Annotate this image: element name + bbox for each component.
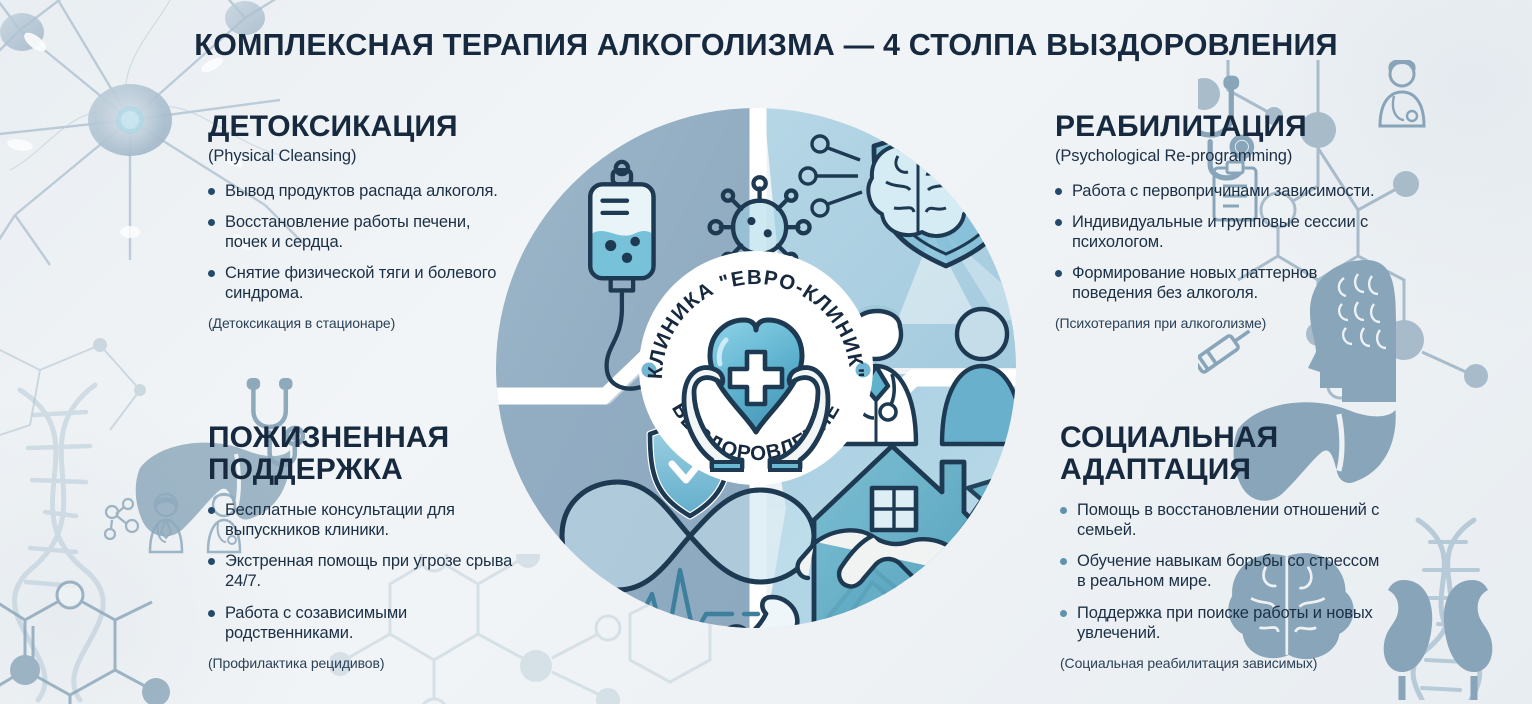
list-item: Работа с первопричинами зависимости. bbox=[1055, 181, 1395, 201]
syringe-icon bbox=[1198, 324, 1254, 380]
page-title: КОМПЛЕКСНАЯ ТЕРАПИЯ АЛКОГОЛИЗМА — 4 СТОЛ… bbox=[0, 28, 1532, 63]
section-rehab: РЕАБИЛИТАЦИЯ (Psychological Re-programmi… bbox=[1055, 112, 1395, 331]
list-item: Вывод продуктов распада алкоголя. bbox=[208, 181, 498, 201]
list-item: Бесплатные консультации для выпускников … bbox=[208, 500, 528, 540]
social-note: (Социальная реабилитация зависимых) bbox=[1060, 655, 1390, 671]
detox-note: (Детоксикация в стационаре) bbox=[208, 315, 498, 331]
support-note: (Профилактика рецидивов) bbox=[208, 655, 528, 671]
recovery-wheel-diagram: КЛИНИКА "ЕВРО-КЛИНИК" ВЫЗДОРОВЛЕНИЕ bbox=[466, 78, 1046, 658]
list-item: Работа с созависимыми родственниками. bbox=[208, 603, 528, 643]
rehab-subheading: (Psychological Re-programming) bbox=[1055, 147, 1395, 166]
buildings-icon bbox=[932, 548, 1046, 658]
list-item: Снятие физической тяги и болевого синдро… bbox=[208, 263, 498, 303]
list-item: Помощь в восстановлении отношений с семь… bbox=[1060, 500, 1390, 540]
rehab-bullet-list: Работа с первопричинами зависимости. Инд… bbox=[1055, 181, 1395, 304]
section-social: СОЦИАЛЬНАЯАДАПТАЦИЯ Помощь в восстановле… bbox=[1060, 422, 1390, 671]
molecule-hexagon-icon bbox=[0, 564, 170, 704]
list-item: Формирование новых паттернов поведения б… bbox=[1055, 263, 1395, 303]
list-item: Индивидуальные и групповые сессии с псих… bbox=[1055, 212, 1395, 252]
brain-icon bbox=[868, 144, 976, 236]
social-bullet-list: Помощь в восстановлении отношений с семь… bbox=[1060, 500, 1390, 643]
detox-heading: ДЕТОКСИКАЦИЯ bbox=[208, 112, 498, 143]
rehab-note: (Психотерапия при алкоголизме) bbox=[1055, 315, 1395, 331]
list-item: Восстановление работы печени, почек и се… bbox=[208, 212, 498, 252]
detox-subheading: (Physical Cleansing) bbox=[208, 147, 498, 166]
social-heading: СОЦИАЛЬНАЯАДАПТАЦИЯ bbox=[1060, 422, 1390, 485]
support-heading: ПОЖИЗНЕННАЯПОДДЕРЖКА bbox=[208, 422, 528, 485]
kidneys-icon bbox=[1384, 580, 1493, 700]
support-bullet-list: Бесплатные консультации для выпускников … bbox=[208, 500, 528, 643]
infographic-canvas: КОМПЛЕКСНАЯ ТЕРАПИЯ АЛКОГОЛИЗМА — 4 СТОЛ… bbox=[0, 0, 1532, 704]
dna-helix-icon bbox=[1413, 520, 1480, 700]
section-detox: ДЕТОКСИКАЦИЯ (Physical Cleansing) Вывод … bbox=[208, 112, 498, 331]
list-item: Поддержка при поиске работы и новых увле… bbox=[1060, 603, 1390, 643]
list-item: Экстренная помощь при угрозе срыва 24/7. bbox=[208, 551, 528, 591]
list-item: Обучение навыкам борьбы со стрессом в ре… bbox=[1060, 551, 1390, 591]
detox-bullet-list: Вывод продуктов распада алкоголя. Восста… bbox=[208, 181, 498, 304]
rehab-heading: РЕАБИЛИТАЦИЯ bbox=[1055, 112, 1395, 143]
center-badge: КЛИНИКА "ЕВРО-КЛИНИК" ВЫЗДОРОВЛЕНИЕ bbox=[639, 251, 873, 485]
section-support: ПОЖИЗНЕННАЯПОДДЕРЖКА Бесплатные консульт… bbox=[208, 422, 528, 671]
